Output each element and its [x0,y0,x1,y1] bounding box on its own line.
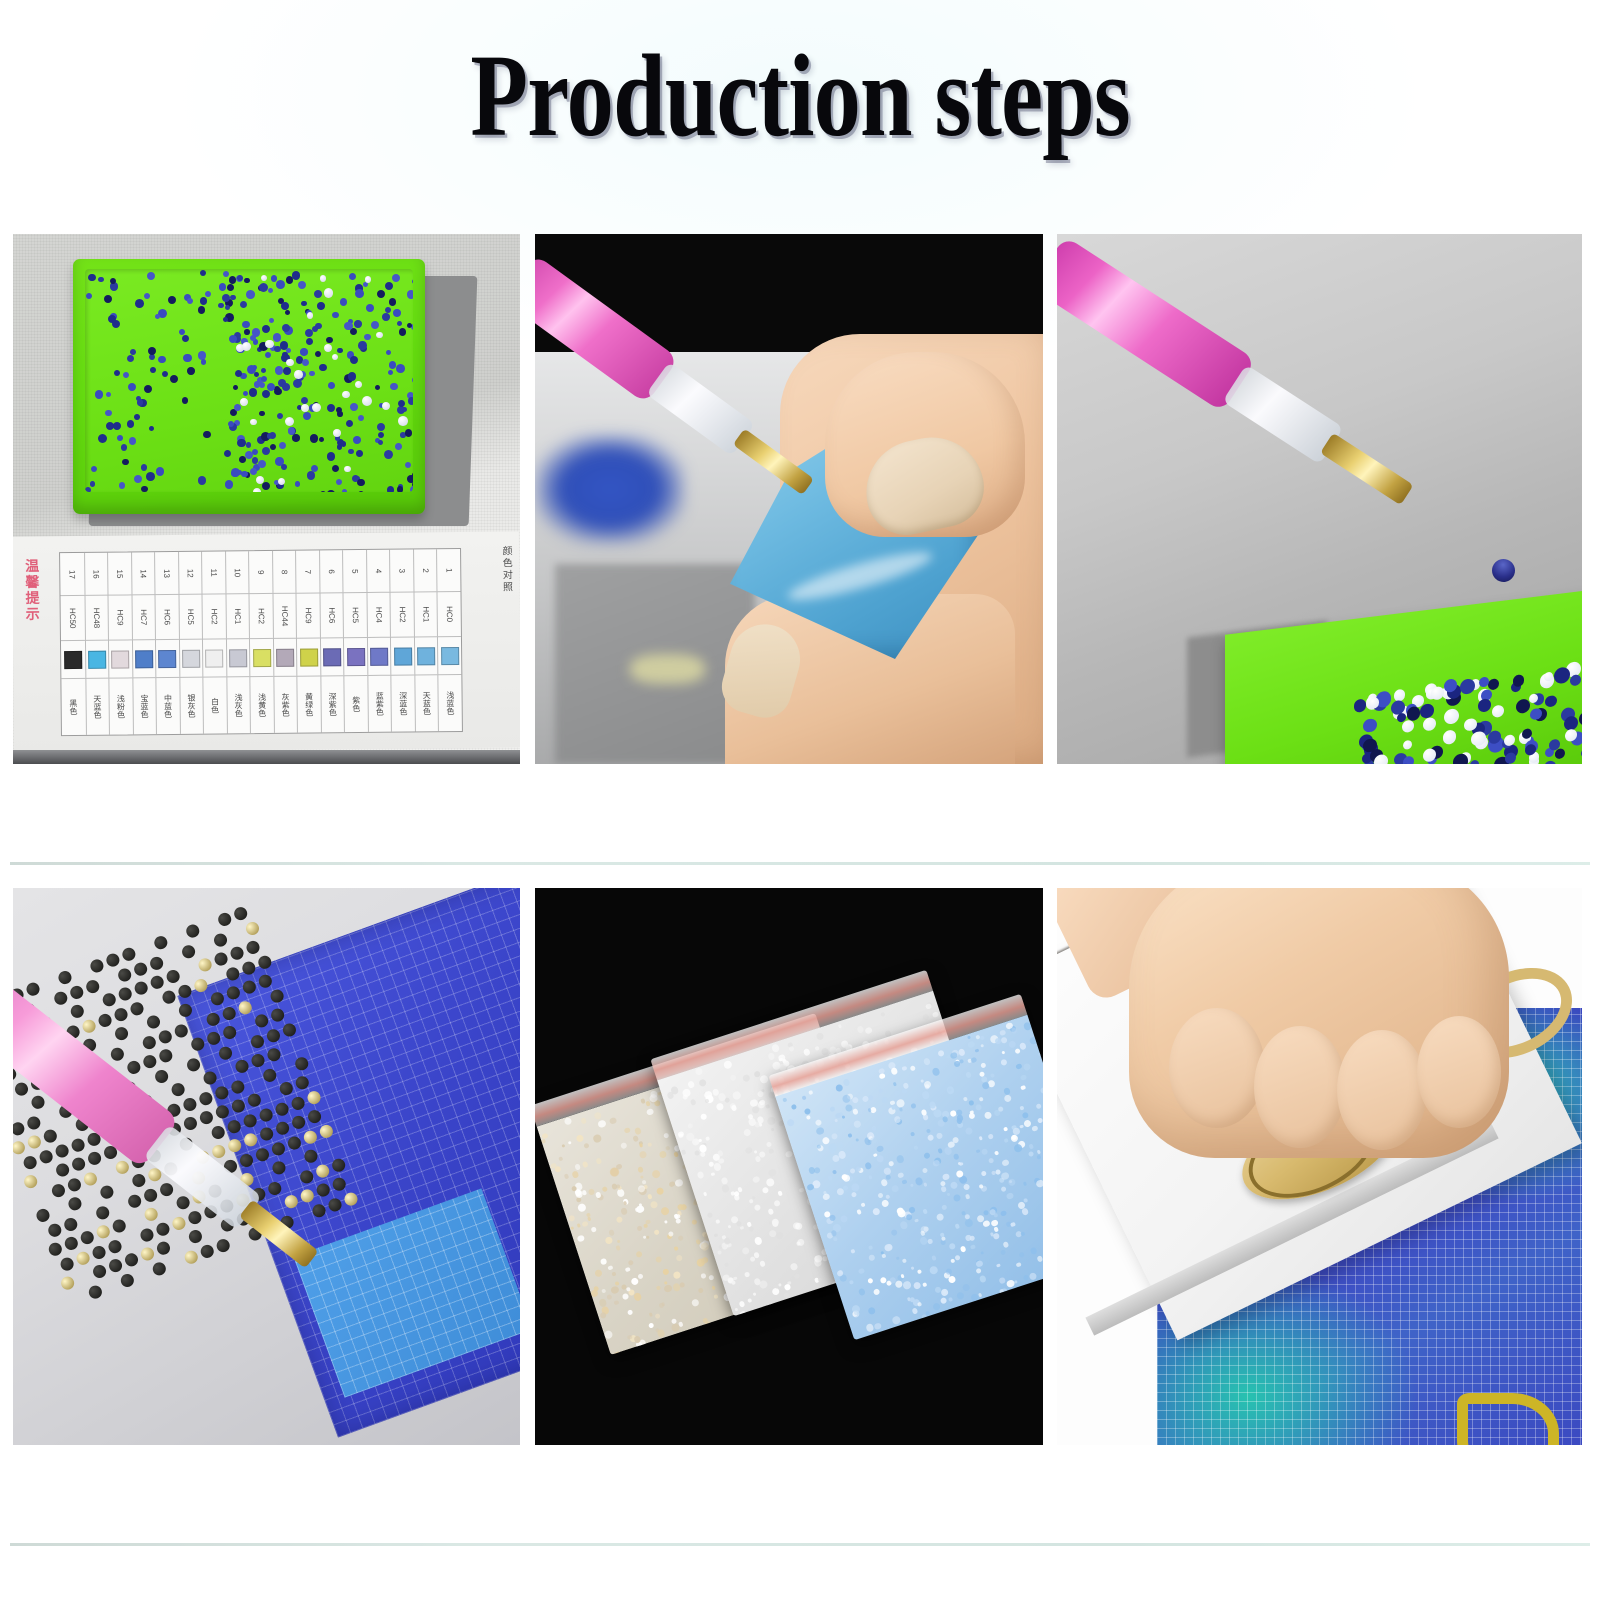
rhinestone [732,1091,741,1100]
chart-cell-colour-name: 浅粉色 [108,678,132,735]
rhinestone [967,1040,975,1048]
table-edge-shadow [13,750,520,764]
drill-dark [242,1113,259,1130]
drill-dark [152,934,169,951]
rhinestone [850,1182,860,1192]
drill-dark [229,945,246,962]
step-photo-pick-up-drill[interactable] [1057,234,1582,764]
drill [252,328,260,336]
pen-metal-tip [1320,433,1414,505]
drill-dark [25,1115,42,1132]
rhinestone [855,1138,859,1142]
art-yellow-motif-2 [1457,1393,1559,1445]
drill-dark [109,1046,126,1063]
step-photo-press-finished-painting[interactable] [1057,888,1582,1445]
rhinestone [1001,1159,1009,1167]
drill-dark [70,1156,87,1173]
step-photo-sort-drills-tray[interactable]: 温馨提示 颜色对照 1716151413121110987654321 HC50… [13,234,520,764]
drill [162,371,169,378]
rhinestone [659,1150,668,1159]
drill [250,468,257,475]
drill [312,326,318,332]
drill [135,299,144,308]
drill-dark [249,1033,266,1050]
picked-up-drill [1488,555,1520,587]
rhinestone [740,1226,744,1230]
rhinestone [656,1286,660,1290]
drill-dark [42,1128,59,1145]
drill [276,280,285,289]
drill-dark [54,1143,71,1160]
rhinestone [715,1219,720,1224]
rhinestone [815,1046,820,1051]
drill-dark [226,1118,243,1135]
drill [319,364,327,372]
rhinestone [959,1162,963,1166]
chart-cell-code: HC2 [249,593,273,638]
drill-dark [281,1022,298,1039]
chart-cell-swatch [108,639,132,678]
drill-clear [324,288,333,297]
drill [148,347,156,355]
drill-dark [52,990,69,1007]
blurred-blue-drills [535,434,685,544]
rhinestone [967,1035,971,1039]
rhinestone [968,1100,974,1106]
rhinestone [790,1263,798,1271]
drill [219,283,227,291]
chart-cell-swatch [202,638,226,677]
drill [114,370,120,376]
chart-cell-number: 7 [295,550,319,593]
drill [88,274,96,282]
rhinestone [615,1216,623,1224]
chart-cell-code: HC6 [319,593,343,638]
drill [227,284,234,291]
chart-cell-code: HC2 [390,592,414,637]
rhinestone [999,1277,1006,1284]
rhinestone [646,1235,650,1239]
drill [223,317,228,322]
rhinestone [840,1215,849,1224]
rhinestone [676,1255,683,1262]
rhinestone [787,1281,791,1285]
rhinestone [916,1269,922,1275]
drill [262,325,270,333]
rhinestone [970,1244,975,1249]
rhinestone [663,1132,670,1139]
drill-dark [87,1284,104,1301]
drill-dark [274,1120,291,1137]
drill-dark [151,1261,168,1278]
step-photo-packaged-drill-bags[interactable] [535,888,1043,1445]
drill-dark [13,1139,27,1156]
chart-cell-colour-name: 银灰色 [179,677,203,734]
drill-clear [242,342,251,351]
drill [356,450,363,457]
rhinestone [602,1186,608,1192]
drill-dark [302,1129,319,1146]
drill [390,383,398,391]
rhinestone [978,1293,982,1297]
rhinestone [765,1104,770,1109]
rhinestone [747,1298,753,1304]
rhinestone [691,1219,697,1225]
drill [239,456,246,463]
rhinestone [917,1302,921,1306]
chart-cell-swatch [132,639,156,678]
step-photo-place-drill-on-canvas[interactable] [13,888,520,1445]
rhinestone [640,1175,645,1180]
chart-row-names: 黑色天蓝色浅粉色宝蓝色中蓝色银灰色白色浅灰色浅黄色灰紫色黄绿色深紫色紫色蓝紫色深… [61,674,462,735]
rhinestone [891,1315,901,1325]
rhinestone [803,1048,811,1056]
rhinestone [1036,1150,1041,1155]
drill [243,391,248,396]
rhinestone [658,1302,664,1308]
drill-dark [50,1182,67,1199]
rhinestone [988,1157,994,1163]
page-title-container: Production steps [0,34,1600,158]
rhinestone [767,1053,775,1061]
rhinestone [867,1306,876,1315]
drill [393,309,400,316]
rhinestone [636,1225,643,1232]
drill [1513,674,1525,687]
drill-dark [311,1202,328,1219]
rhinestone [837,1141,845,1149]
drill [123,372,130,379]
drill [358,415,364,421]
rhinestone [1021,1208,1029,1216]
rhinestone [568,1140,572,1144]
chart-cell-colour-name: 浅黄色 [250,676,274,733]
drill-dark [306,1108,323,1125]
drill-dark [57,969,74,986]
rhinestone [814,1166,822,1174]
drill-dark [81,1018,98,1035]
rhinestone [932,1302,941,1311]
drill [395,443,402,450]
drill-dark [250,1052,267,1069]
drill-dark [94,1205,111,1222]
rhinestone [981,1148,989,1156]
rhinestone [739,1311,747,1317]
drill-dark [105,952,122,969]
rhinestone [890,1067,898,1075]
rhinestone [950,1258,955,1263]
rhinestone [948,1275,957,1284]
drill-dark [97,1012,114,1029]
drill [386,350,391,355]
drill-dark [47,1241,64,1258]
drill [1516,699,1530,715]
drill-dark [30,1094,47,1111]
drill-clear [382,402,390,410]
rhinestone [898,1172,904,1178]
rhinestone [947,1192,951,1196]
colour-code-chart: 温馨提示 颜色对照 1716151413121110987654321 HC50… [13,531,520,752]
rhinestone [962,1183,970,1191]
drill-dark [209,990,226,1007]
step-photo-dip-pen-in-wax[interactable] [535,234,1043,764]
drill-dark [99,1184,116,1201]
rhinestone [980,1251,984,1255]
drill-dark [25,981,42,998]
chart-cell-swatch [249,638,273,677]
rhinestone [628,1347,637,1355]
drill-dark [91,1244,108,1261]
rhinestone [833,1237,838,1242]
drill [1407,706,1421,721]
drill-dark [205,1011,222,1028]
rhinestone [616,1188,625,1197]
drill [91,466,97,472]
drill [201,359,207,365]
rhinestone [830,1132,838,1140]
drill [327,404,335,412]
chart-cell-swatch [61,640,85,679]
drill-dark [225,985,242,1002]
rhinestone [630,1277,639,1286]
rhinestone [932,1011,938,1017]
chart-cell-code: HC2 [202,594,226,639]
rhinestone [694,1150,700,1156]
drill [350,356,358,364]
rhinestone [955,1223,961,1229]
drill-clear [250,419,257,426]
drill-dark [82,1171,99,1188]
chart-cell-number: 11 [201,551,225,594]
drill-clear [1492,705,1504,719]
rhinestone [895,1280,903,1288]
drill [113,422,121,430]
drill-dark [343,1191,360,1208]
drill [277,413,283,419]
rhinestone [767,1301,776,1310]
drill-dark [293,1055,310,1072]
drill [141,486,148,492]
rhinestone [775,1231,784,1240]
drill-dark [54,1162,71,1179]
drill-dark [126,1059,143,1076]
drill [182,397,189,404]
rhinestone [935,1132,942,1139]
rhinestone [607,1265,613,1271]
drill [328,382,335,389]
rhinestone [876,1145,884,1153]
rhinestone [979,1275,988,1284]
rhinestone [582,1220,589,1227]
drill-dark [177,983,194,1000]
rhinestone [777,1190,783,1196]
rhinestone [759,1074,769,1084]
drill-dark [189,1036,206,1053]
drill-dark [246,1092,263,1109]
rhinestone [654,1312,661,1319]
rhinestone [829,1106,835,1112]
chart-cell-colour-name: 黄绿色 [297,676,321,733]
drill [344,322,353,331]
rhinestone [753,1150,757,1154]
drill-dark [171,1215,188,1232]
rhinestone [593,1112,602,1121]
rhinestone [613,1300,619,1306]
rhinestone [960,1246,967,1253]
rhinestone [600,1258,607,1265]
drill [265,352,272,359]
colour-swatch [253,649,271,667]
rhinestone [762,1187,770,1195]
rhinestone [864,1162,872,1170]
drill-dark [213,951,230,968]
drill [1453,753,1469,764]
drill-dark [330,1157,347,1174]
rhinestone [583,1143,589,1149]
drill-dark [62,1216,79,1233]
drill [231,468,240,477]
page-title: Production steps [470,34,1129,158]
drill [200,270,207,277]
drill-dark [139,1227,156,1244]
drill [249,388,257,396]
rhinestone [734,1307,738,1311]
drill [327,452,336,461]
drill-dark [95,1223,112,1240]
rhinestone [853,1120,861,1128]
rhinestone [810,1240,817,1247]
rhinestone [541,1139,545,1143]
drill [182,335,189,342]
rhinestone [666,1146,671,1151]
drill-dark [210,1124,227,1141]
drill [269,318,274,323]
chart-cell-swatch [296,637,320,676]
chart-cell-colour-name: 深蓝色 [391,675,415,732]
drill [311,465,318,472]
drill-dark [75,1250,92,1267]
chart-cell-swatch [367,637,391,676]
rhinestone [868,1175,873,1180]
colour-swatch [300,648,318,666]
drill-dark [266,1046,283,1063]
drill [127,420,135,428]
rhinestone [981,1170,988,1177]
drill-dark [198,1090,215,1107]
drill-dark [180,943,197,960]
rhinestone [847,1133,852,1138]
drill [155,314,160,319]
rhinestone [923,1182,928,1187]
drill [237,439,246,448]
drill [144,385,152,393]
rhinestone [902,1280,912,1290]
drill-dark [238,1152,255,1169]
rhinestone [606,1294,613,1301]
drill [240,301,247,308]
drill-clear [362,396,372,406]
drill [307,471,316,480]
drill-dark [315,1182,332,1199]
chart-cell-colour-name: 黑色 [61,678,85,735]
rhinestone [656,1187,665,1196]
rhinestone [744,1272,750,1278]
rhinestone [914,1177,924,1187]
steps-row-bottom [0,888,1600,1445]
rhinestone [933,1109,942,1118]
rhinestone [581,1189,587,1195]
rhinestone [617,1239,621,1243]
rhinestone [963,1096,968,1101]
rhinestone [1036,1103,1042,1109]
drill-dark [193,977,210,994]
drill-dark [183,1249,200,1266]
rhinestone [851,1192,857,1198]
rhinestone [647,1194,652,1199]
rhinestone [620,1142,628,1150]
rhinestone [899,1107,903,1111]
drill-clear [278,478,285,485]
drill-dark [199,1243,216,1260]
chart-cell-swatch [414,636,438,675]
rhinestone [958,1048,966,1056]
rhinestone [609,1116,617,1124]
drill-dark [46,1222,63,1239]
rhinestone [716,1103,724,1111]
rhinestone [873,1288,881,1296]
drill-dark [274,1101,291,1118]
drill [340,298,347,305]
drill [1505,752,1516,764]
chart-cell-number: 17 [60,553,84,596]
chart-cell-number: 6 [319,550,343,593]
chart-cell-code: HC44 [272,593,296,638]
rhinestone [1014,1048,1021,1055]
knuckle-1 [1169,1008,1265,1128]
rhinestone [635,1250,643,1258]
rhinestone [931,1067,941,1077]
chart-cell-code: HC9 [108,595,132,640]
rhinestone [615,1351,622,1355]
rhinestone [645,1219,650,1224]
rhinestone [924,1152,932,1160]
drill [158,356,165,363]
chart-grid: 1716151413121110987654321 HC50HC48HC9HC7… [59,548,463,736]
rhinestone [784,1284,791,1291]
rhinestone [1036,1256,1043,1263]
rhinestone [1019,1252,1026,1259]
rhinestone [975,1103,983,1111]
drill [336,479,343,486]
rhinestone [991,1219,999,1227]
chart-cell-colour-name: 浅蓝色 [438,674,462,731]
rhinestone [717,1250,722,1255]
rhinestone [770,1128,774,1132]
chart-row-codes: HC50HC48HC9HC7HC6HC5HC2HC1HC2HC44HC9HC6H… [61,591,461,640]
rhinestone [700,1113,707,1120]
drill-dark [149,974,166,991]
drill [317,302,324,309]
drill [364,334,371,341]
drill-dark [184,923,201,940]
rhinestone [608,1229,615,1236]
drill [397,321,402,326]
knuckle-3 [1337,1030,1427,1150]
drill [1555,749,1565,760]
drill-dark [84,978,101,995]
drill-dark [261,1067,278,1084]
rhinestone [993,1213,998,1218]
